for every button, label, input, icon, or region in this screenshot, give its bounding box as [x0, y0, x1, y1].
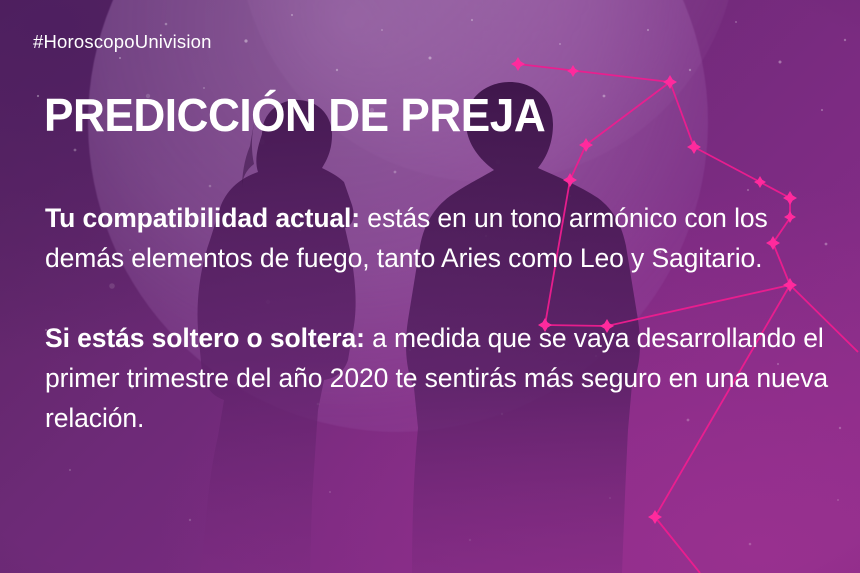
horoscope-body: Tu compatibilidad actual: estás en un to… — [45, 198, 835, 438]
page-title: PREDICCIÓN DE PREJA — [44, 92, 545, 138]
paragraph-single-lead: Si estás soltero o soltera: — [45, 323, 365, 353]
paragraph-compatibility-lead: Tu compatibilidad actual: — [45, 203, 360, 233]
paragraph-single: Si estás soltero o soltera: a medida que… — [45, 318, 835, 438]
hashtag-label: #HoroscopoUnivision — [33, 31, 212, 53]
horoscope-card: #HoroscopoUnivision PREDICCIÓN DE PREJA … — [0, 0, 860, 573]
paragraph-compatibility: Tu compatibilidad actual: estás en un to… — [45, 198, 835, 278]
